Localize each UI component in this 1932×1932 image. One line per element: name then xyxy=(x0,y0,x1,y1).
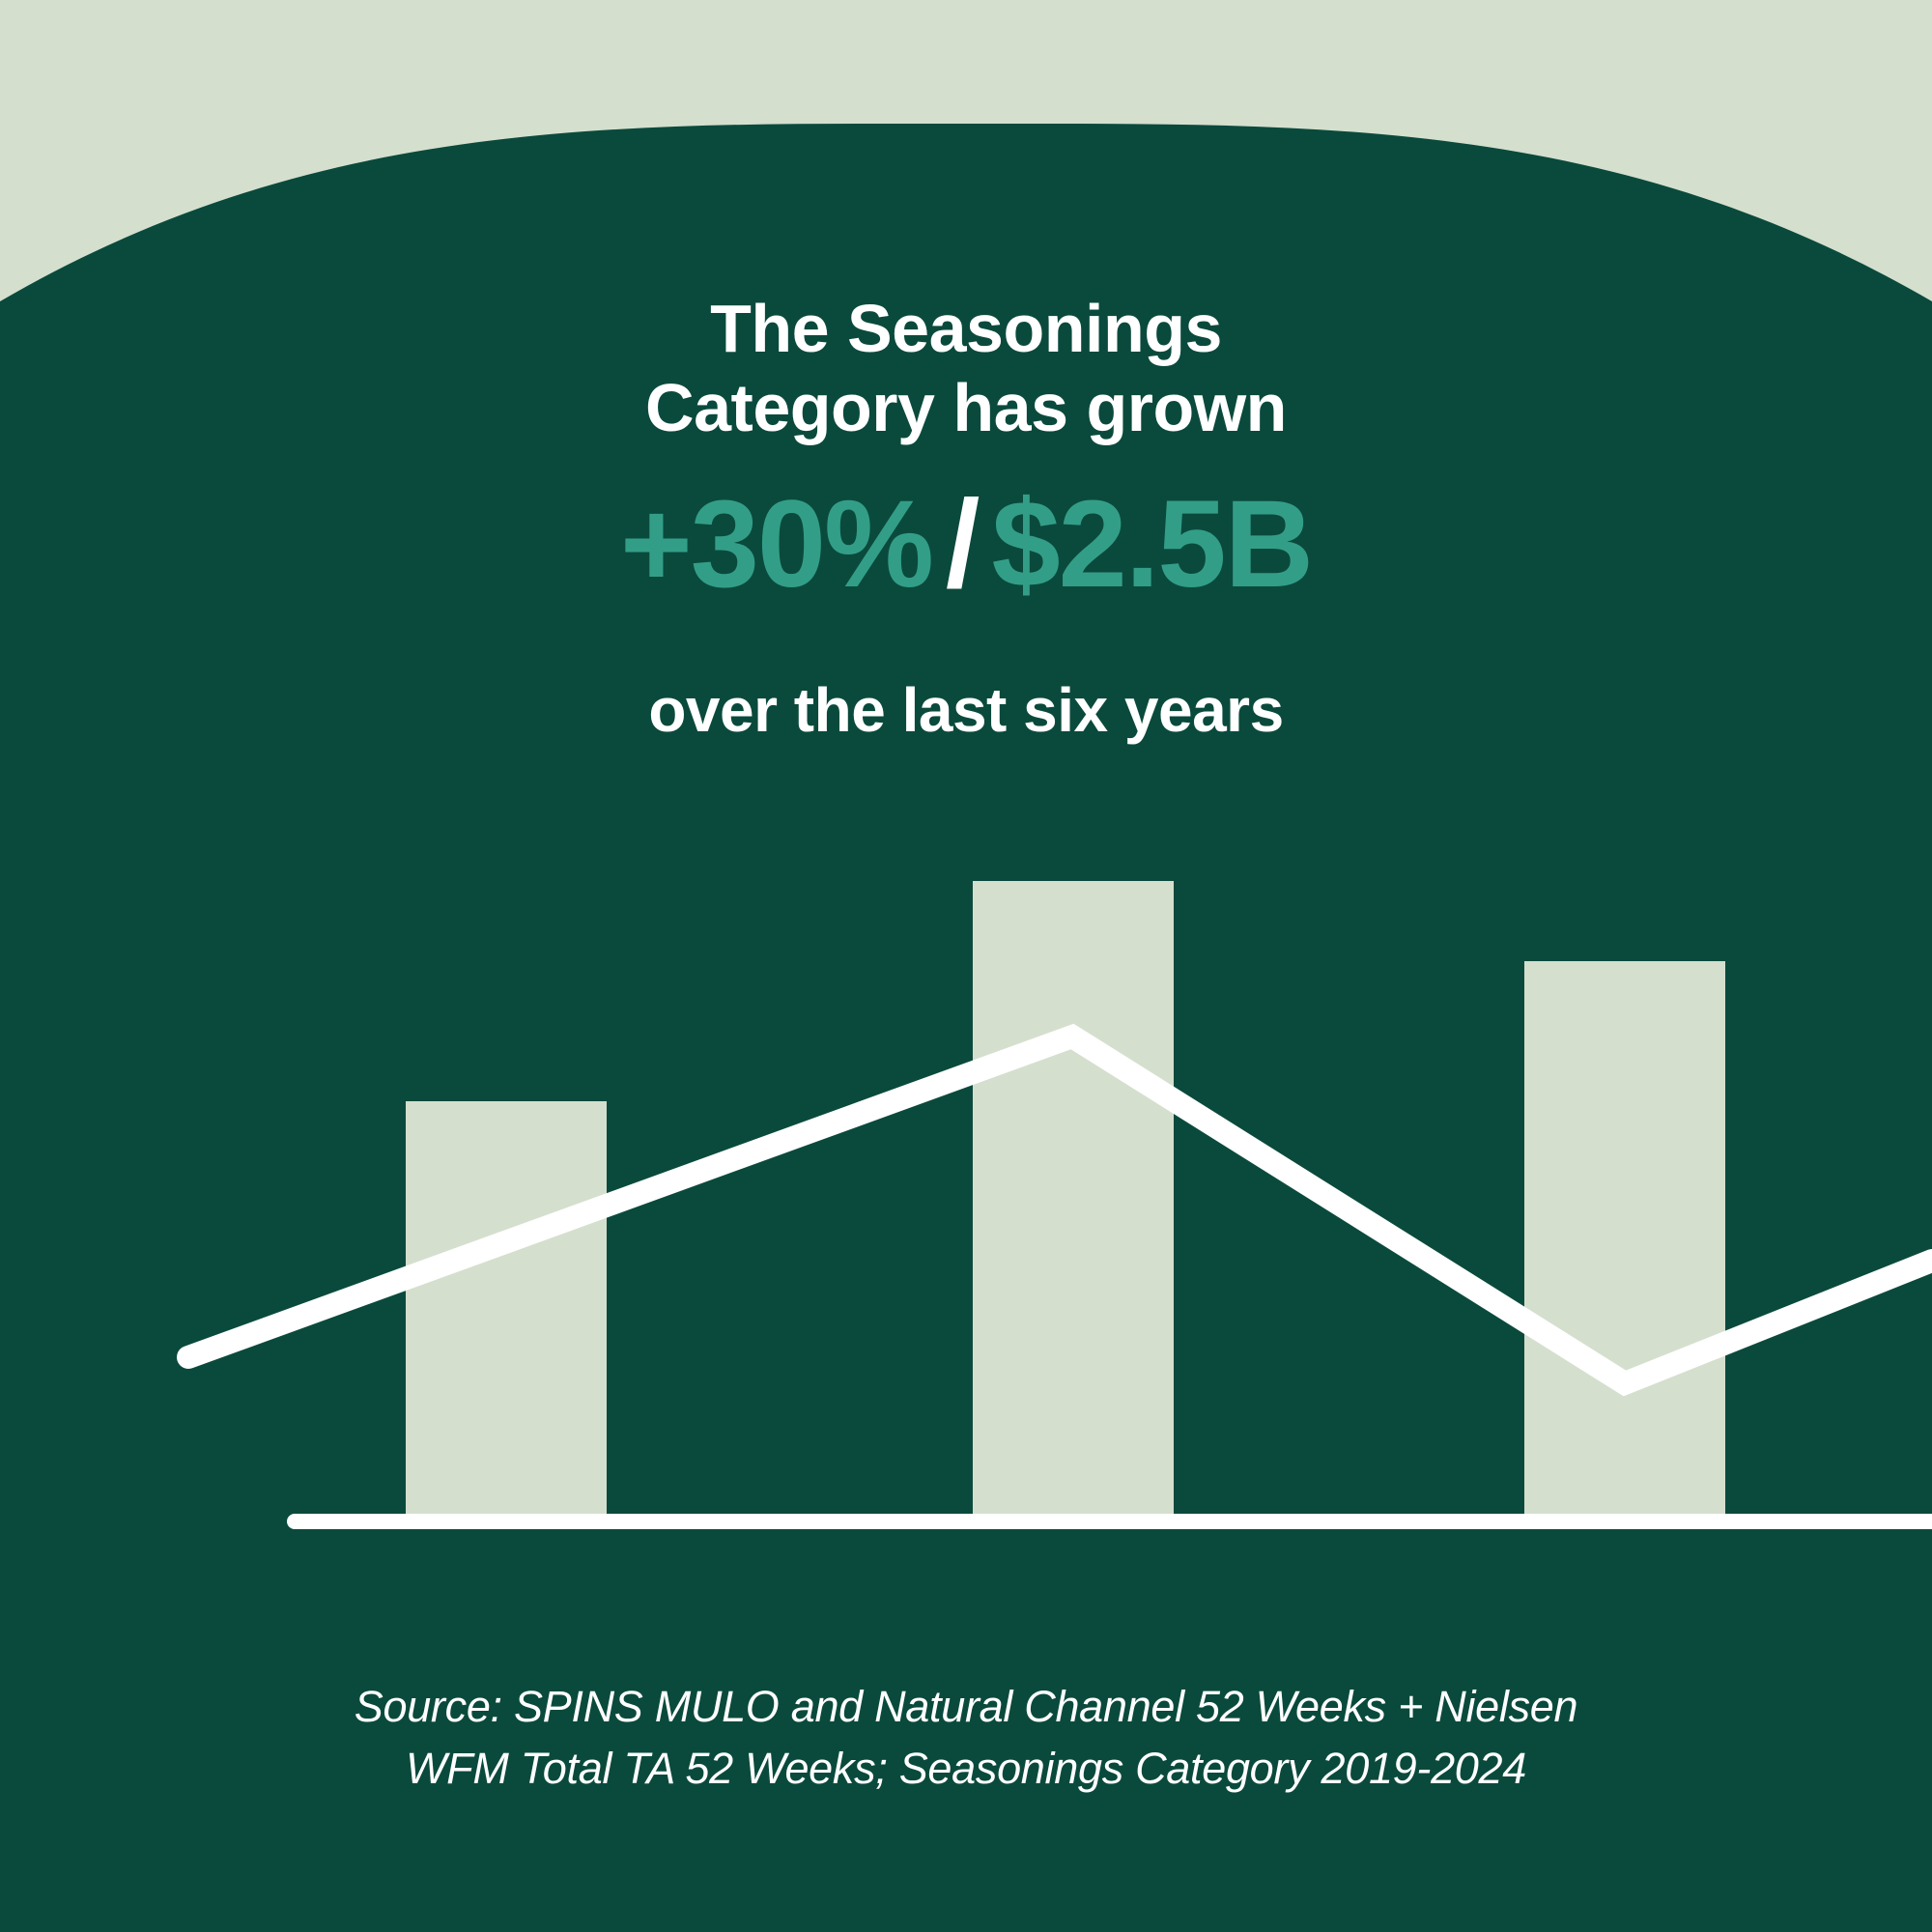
headline-line-2: Category has grown xyxy=(0,369,1932,448)
stat-separator: / xyxy=(932,475,992,613)
source-line-2: WFM Total TA 52 Weeks; Seasonings Catego… xyxy=(0,1738,1932,1800)
stat-dollar-value: $2.5B xyxy=(991,475,1312,613)
page-subtitle: over the last six years xyxy=(0,676,1932,744)
headline-line-1: The Seasonings xyxy=(0,290,1932,369)
page-title: The Seasonings Category has grown xyxy=(0,290,1932,448)
infographic-canvas: The Seasonings Category has grown +30%/$… xyxy=(0,0,1932,1932)
text-content-layer: The Seasonings Category has grown +30%/$… xyxy=(0,0,1932,1932)
key-stat: +30%/$2.5B xyxy=(0,483,1932,607)
source-line-1: Source: SPINS MULO and Natural Channel 5… xyxy=(0,1676,1932,1738)
source-note: Source: SPINS MULO and Natural Channel 5… xyxy=(0,1676,1932,1800)
stat-percent-value: +30% xyxy=(620,475,932,613)
